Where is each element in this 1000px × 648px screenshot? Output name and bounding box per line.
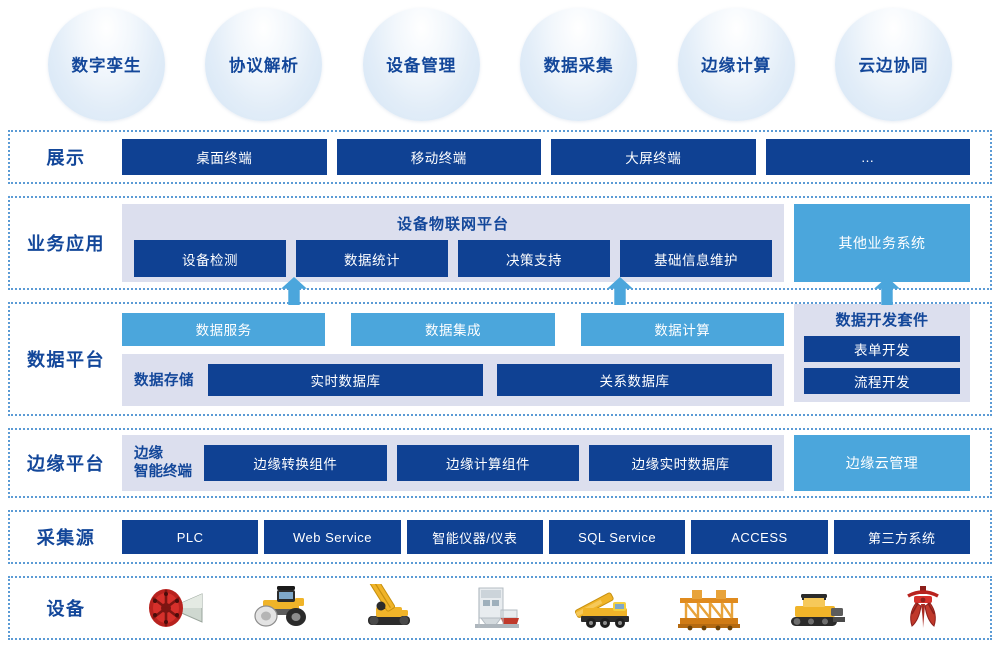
- road-roller-icon: [245, 581, 319, 635]
- display-item-large-screen-terminal[interactable]: 大屏终端: [551, 139, 756, 175]
- data-platform-main-column: 数据服务 数据集成 数据计算 数据存储 实时数据库 关系数据库: [122, 304, 784, 414]
- asphalt-paver-icon: [779, 581, 853, 635]
- layer-business-application: 业务应用 设备物联网平台 设备检测 数据统计 决策支持 基础信息维护 其他业务系…: [8, 196, 992, 290]
- capability-bubble-data-collection[interactable]: 数据采集: [520, 8, 637, 121]
- data-item-process-development[interactable]: 流程开发: [804, 368, 960, 394]
- business-item-device-detection[interactable]: 设备检测: [134, 240, 286, 277]
- source-item-access[interactable]: ACCESS: [691, 520, 827, 554]
- business-item-decision-support[interactable]: 决策支持: [458, 240, 610, 277]
- data-item-data-integration[interactable]: 数据集成: [351, 313, 554, 346]
- capability-bubble-digital-twin[interactable]: 数字孪生: [48, 8, 165, 121]
- tunnel-boring-machine-icon: [138, 581, 212, 635]
- data-item-realtime-database[interactable]: 实时数据库: [208, 364, 483, 396]
- data-development-suite-title: 数据开发套件: [835, 309, 928, 330]
- edge-component-boxes: 边缘转换组件 边缘计算组件 边缘实时数据库: [204, 445, 772, 481]
- capability-bubble-edge-computing[interactable]: 边缘计算: [678, 8, 795, 121]
- layer-edge-body: 边缘 智能终端 边缘转换组件 边缘计算组件 边缘实时数据库 边缘云管理: [122, 430, 990, 496]
- capability-bubble-row: 数字孪生 协议解析 设备管理 数据采集 边缘计算 云边协同: [0, 0, 1000, 128]
- edge-item-cloud-management[interactable]: 边缘云管理: [794, 435, 970, 491]
- capability-label: 设备管理: [386, 52, 456, 76]
- layer-equipment: 设备: [8, 576, 992, 640]
- layer-edge-label: 边缘平台: [10, 450, 122, 476]
- data-development-suite-panel: 数据开发套件 表单开发 流程开发: [794, 304, 970, 402]
- edge-terminal-label-line2: 智能终端: [134, 463, 192, 481]
- layer-source-body: PLC Web Service 智能仪器/仪表 SQL Service ACCE…: [122, 512, 990, 562]
- capability-label: 协议解析: [229, 52, 299, 76]
- data-service-row: 数据服务 数据集成 数据计算: [122, 313, 784, 346]
- capability-bubble-protocol-parsing[interactable]: 协议解析: [205, 8, 322, 121]
- capability-bubble-device-management[interactable]: 设备管理: [363, 8, 480, 121]
- business-item-basic-info-maintenance[interactable]: 基础信息维护: [620, 240, 772, 277]
- layer-display-label: 展示: [10, 144, 122, 170]
- capability-label: 边缘计算: [701, 52, 771, 76]
- grab-bucket-icon: [886, 581, 960, 635]
- data-storage-label: 数据存储: [134, 369, 194, 390]
- source-item-smart-instrument[interactable]: 智能仪器/仪表: [407, 520, 543, 554]
- truck-crane-icon: [565, 581, 639, 635]
- layer-source-label: 采集源: [10, 524, 122, 550]
- display-item-desktop-terminal[interactable]: 桌面终端: [122, 139, 327, 175]
- business-item-other-systems[interactable]: 其他业务系统: [794, 204, 970, 282]
- layer-display: 展示 桌面终端 移动终端 大屏终端 ...: [8, 130, 992, 184]
- display-item-more[interactable]: ...: [766, 139, 971, 175]
- data-item-relational-database[interactable]: 关系数据库: [497, 364, 772, 396]
- capability-label: 数字孪生: [72, 52, 142, 76]
- data-storage-panel: 数据存储 实时数据库 关系数据库: [122, 354, 784, 406]
- drilling-rig-icon: [352, 581, 426, 635]
- source-item-sql-service[interactable]: SQL Service: [549, 520, 685, 554]
- data-item-data-service[interactable]: 数据服务: [122, 313, 325, 346]
- layer-display-body: 桌面终端 移动终端 大屏终端 ...: [122, 132, 990, 182]
- data-item-form-development[interactable]: 表单开发: [804, 336, 960, 362]
- capability-bubble-cloud-edge-collaboration[interactable]: 云边协同: [835, 8, 952, 121]
- edge-terminal-label-line1: 边缘: [134, 445, 192, 463]
- layer-business-label: 业务应用: [10, 230, 122, 256]
- capability-label: 数据采集: [544, 52, 614, 76]
- concrete-batching-plant-icon: [459, 581, 533, 635]
- edge-intelligent-terminal-label: 边缘 智能终端: [134, 445, 192, 481]
- layer-equipment-body: [122, 578, 990, 638]
- layer-edge-platform: 边缘平台 边缘 智能终端 边缘转换组件 边缘计算组件 边缘实时数据库 边缘云管理: [8, 428, 992, 498]
- bridge-erecting-machine-icon: [672, 581, 746, 635]
- source-item-third-party-system[interactable]: 第三方系统: [834, 520, 970, 554]
- data-item-data-computing[interactable]: 数据计算: [581, 313, 784, 346]
- layer-equipment-label: 设备: [10, 595, 122, 621]
- edge-item-computing-component[interactable]: 边缘计算组件: [397, 445, 580, 481]
- layer-business-body: 设备物联网平台 设备检测 数据统计 决策支持 基础信息维护 其他业务系统: [122, 198, 990, 288]
- iot-platform-panel: 设备物联网平台 设备检测 数据统计 决策支持 基础信息维护: [122, 204, 784, 282]
- layer-data-platform: 数据平台 数据服务 数据集成 数据计算 数据存储 实时数据库 关系数据库 数据开…: [8, 302, 992, 416]
- edge-item-conversion-component[interactable]: 边缘转换组件: [204, 445, 387, 481]
- source-item-plc[interactable]: PLC: [122, 520, 258, 554]
- iot-platform-title: 设备物联网平台: [397, 213, 509, 234]
- edge-item-realtime-database[interactable]: 边缘实时数据库: [589, 445, 772, 481]
- display-item-mobile-terminal[interactable]: 移动终端: [337, 139, 542, 175]
- layer-data-body: 数据服务 数据集成 数据计算 数据存储 实时数据库 关系数据库 数据开发套件 表…: [122, 304, 990, 414]
- edge-terminal-panel: 边缘 智能终端 边缘转换组件 边缘计算组件 边缘实时数据库: [122, 435, 784, 491]
- layer-data-label: 数据平台: [10, 346, 122, 372]
- business-item-data-statistics[interactable]: 数据统计: [296, 240, 448, 277]
- source-item-web-service[interactable]: Web Service: [264, 520, 400, 554]
- iot-platform-modules: 设备检测 数据统计 决策支持 基础信息维护: [134, 240, 772, 277]
- layer-collection-source: 采集源 PLC Web Service 智能仪器/仪表 SQL Service …: [8, 510, 992, 564]
- capability-label: 云边协同: [858, 52, 928, 76]
